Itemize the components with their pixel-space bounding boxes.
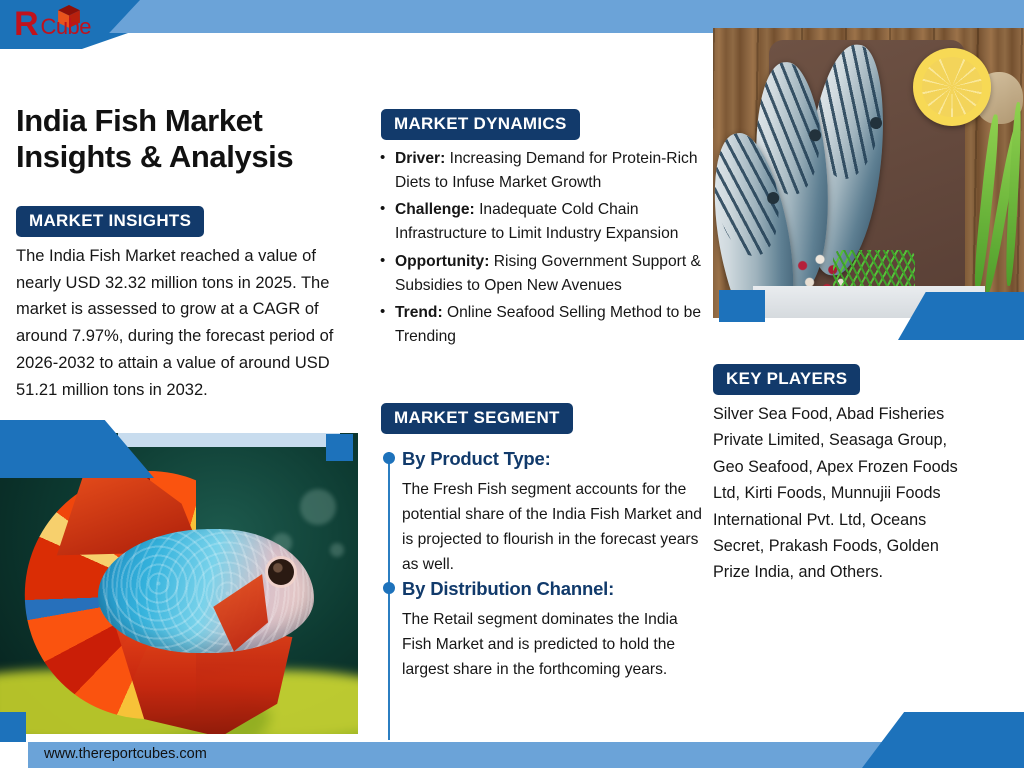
- image-top-strip: [118, 433, 340, 447]
- market-dynamics-list: Driver: Increasing Demand for Protein-Ri…: [378, 147, 708, 352]
- infographic-canvas: Я Cube India Fish Market Insights & Anal…: [0, 0, 1024, 768]
- list-item: Challenge: Inadequate Cold Chain Infrast…: [378, 198, 708, 246]
- betta-body: [98, 529, 314, 653]
- list-item: Driver: Increasing Demand for Protein-Ri…: [378, 147, 708, 195]
- dynamics-label: Driver:: [395, 150, 445, 167]
- dynamics-label: Opportunity:: [395, 253, 489, 270]
- badge-market-segment: MARKET SEGMENT: [381, 403, 573, 434]
- mackerel-fish-image: [713, 28, 1024, 318]
- dynamics-label: Trend:: [395, 304, 443, 321]
- brand-logo[interactable]: Я Cube: [14, 3, 91, 39]
- bokeh-bubble: [330, 543, 344, 557]
- logo-text: Cube: [40, 15, 91, 39]
- accent-block-blue-left: [0, 712, 26, 742]
- segment-item: By Product Type: The Fresh Fish segment …: [402, 448, 702, 578]
- betta-eye: [268, 559, 294, 585]
- segment-heading: By Product Type:: [402, 448, 702, 470]
- segment-body: The Retail segment dominates the India F…: [402, 608, 702, 683]
- segment-item: By Distribution Channel: The Retail segm…: [402, 578, 702, 683]
- market-insights-body: The India Fish Market reached a value of…: [16, 243, 356, 403]
- list-item: Trend: Online Seafood Selling Method to …: [378, 301, 708, 349]
- segment-heading: By Distribution Channel:: [402, 578, 702, 600]
- betta-fish-image: [0, 433, 358, 734]
- accent-square-blue: [719, 290, 765, 322]
- logo-mark: Я: [14, 9, 38, 39]
- segment-body: The Fresh Fish segment accounts for the …: [402, 478, 702, 578]
- key-players-body: Silver Sea Food, Abad Fisheries Private …: [713, 401, 971, 586]
- footer-website-url[interactable]: www.thereportcubes.com: [44, 746, 207, 762]
- bokeh-bubble: [300, 489, 336, 525]
- segment-connector-line: [388, 452, 390, 740]
- badge-key-players: KEY PLAYERS: [713, 364, 860, 395]
- page-title: India Fish Market Insights & Analysis: [16, 103, 346, 176]
- segment-bullet-dot: [383, 452, 395, 464]
- badge-market-insights: MARKET INSIGHTS: [16, 206, 204, 237]
- segment-bullet-dot: [383, 582, 395, 594]
- badge-market-dynamics: MARKET DYNAMICS: [381, 109, 580, 140]
- dynamics-label: Challenge:: [395, 201, 475, 218]
- lemon-half: [913, 48, 991, 126]
- list-item: Opportunity: Rising Government Support &…: [378, 250, 708, 298]
- footer-accent-shape: [862, 712, 1024, 768]
- accent-square-blue: [326, 434, 353, 461]
